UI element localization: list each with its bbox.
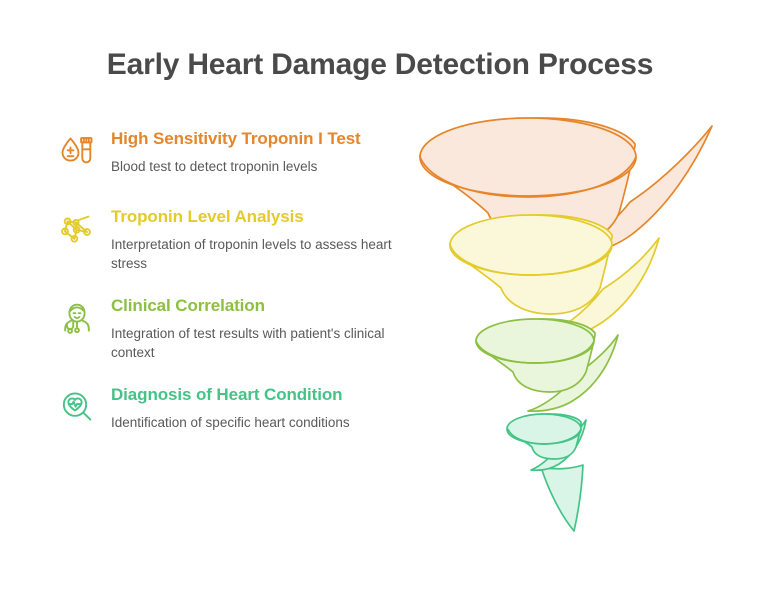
funnel-segment-3 [476,319,618,411]
step-description-4: Identification of specific heart conditi… [111,413,401,432]
step-item-1: High Sensitivity Troponin I Test Blood t… [56,128,406,184]
step-item-3: Clinical Correlation Integration of test… [56,295,406,362]
step-description-2: Interpretation of troponin levels to ass… [111,235,401,273]
steps-list: High Sensitivity Troponin I Test Blood t… [56,128,406,462]
molecule-network-icon [56,208,98,250]
step-item-2: Troponin Level Analysis Interpretation o… [56,206,406,273]
page-title: Early Heart Damage Detection Process [0,48,760,82]
step-heading-2: Troponin Level Analysis [111,206,406,228]
step-item-4: Diagnosis of Heart Condition Identificat… [56,384,406,440]
doctor-stethoscope-icon [56,297,98,339]
step-heading-3: Clinical Correlation [111,295,406,317]
spiral-funnel-graphic [395,105,745,555]
step-description-3: Integration of test results with patient… [111,324,401,362]
step-description-1: Blood test to detect troponin levels [111,157,401,176]
funnel-segment-4 [507,414,586,531]
step-heading-1: High Sensitivity Troponin I Test [111,128,406,150]
step-heading-4: Diagnosis of Heart Condition [111,384,406,406]
infographic-canvas: Early Heart Damage Detection Process [0,0,760,600]
magnifier-heart-pulse-icon [56,386,98,428]
blood-drop-test-tube-icon [56,130,98,172]
